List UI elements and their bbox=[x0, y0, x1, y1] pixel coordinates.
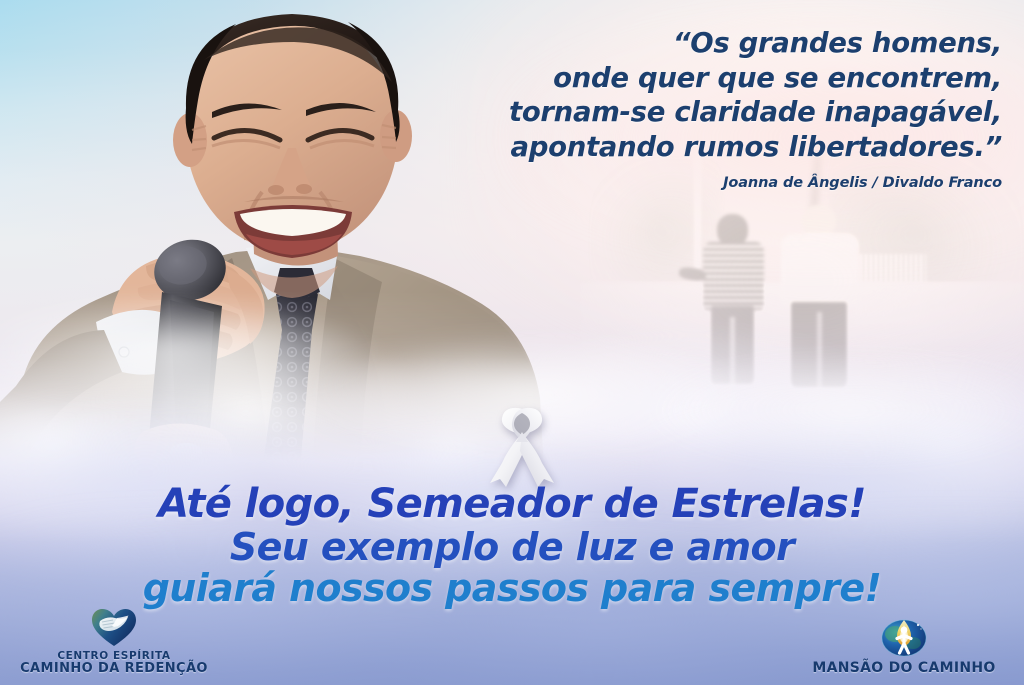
logo-left-line-2: CAMINHO DA REDENÇÃO bbox=[20, 662, 208, 677]
quote-line-4: apontando rumos libertadores.” bbox=[462, 130, 1002, 165]
headline-block: Até logo, Semeador de Estrelas! Seu exem… bbox=[0, 484, 1024, 609]
quote-attribution: Joanna de Ângelis / Divaldo Franco bbox=[462, 175, 1002, 191]
headline-line-3: guiará nossos passos para sempre! bbox=[0, 569, 1024, 609]
quote-line-2: onde quer que se encontrem, bbox=[462, 61, 1002, 96]
logo-right-line-2: MANSÃO DO CAMINHO bbox=[812, 661, 995, 677]
heart-hands-icon bbox=[91, 608, 137, 648]
logo-centro-espirita-caminho-da-redencao: CENTRO ESPÍRITA CAMINHO DA REDENÇÃO bbox=[14, 608, 214, 677]
memorial-poster: “Os grandes homens, onde quer que se enc… bbox=[0, 0, 1024, 685]
headline-line-2: Seu exemplo de luz e amor bbox=[0, 528, 1024, 568]
cloud-wisp-right bbox=[640, 350, 1024, 470]
headline-line-1: Até logo, Semeador de Estrelas! bbox=[0, 484, 1024, 526]
mourning-ribbon-icon bbox=[484, 405, 560, 487]
globe-figure-flame-icon bbox=[880, 613, 928, 658]
logo-mansao-do-caminho: MANSÃO DO CAMINHO bbox=[794, 613, 1014, 677]
quote-block: “Os grandes homens, onde quer que se enc… bbox=[462, 26, 1002, 191]
quote-line-3: tornam-se claridade inapagável, bbox=[462, 95, 1002, 130]
logo-left-text: CENTRO ESPÍRITA CAMINHO DA REDENÇÃO bbox=[20, 651, 208, 677]
quote-line-1: “Os grandes homens, bbox=[462, 26, 1002, 61]
logo-right-text: MANSÃO DO CAMINHO bbox=[812, 661, 995, 677]
